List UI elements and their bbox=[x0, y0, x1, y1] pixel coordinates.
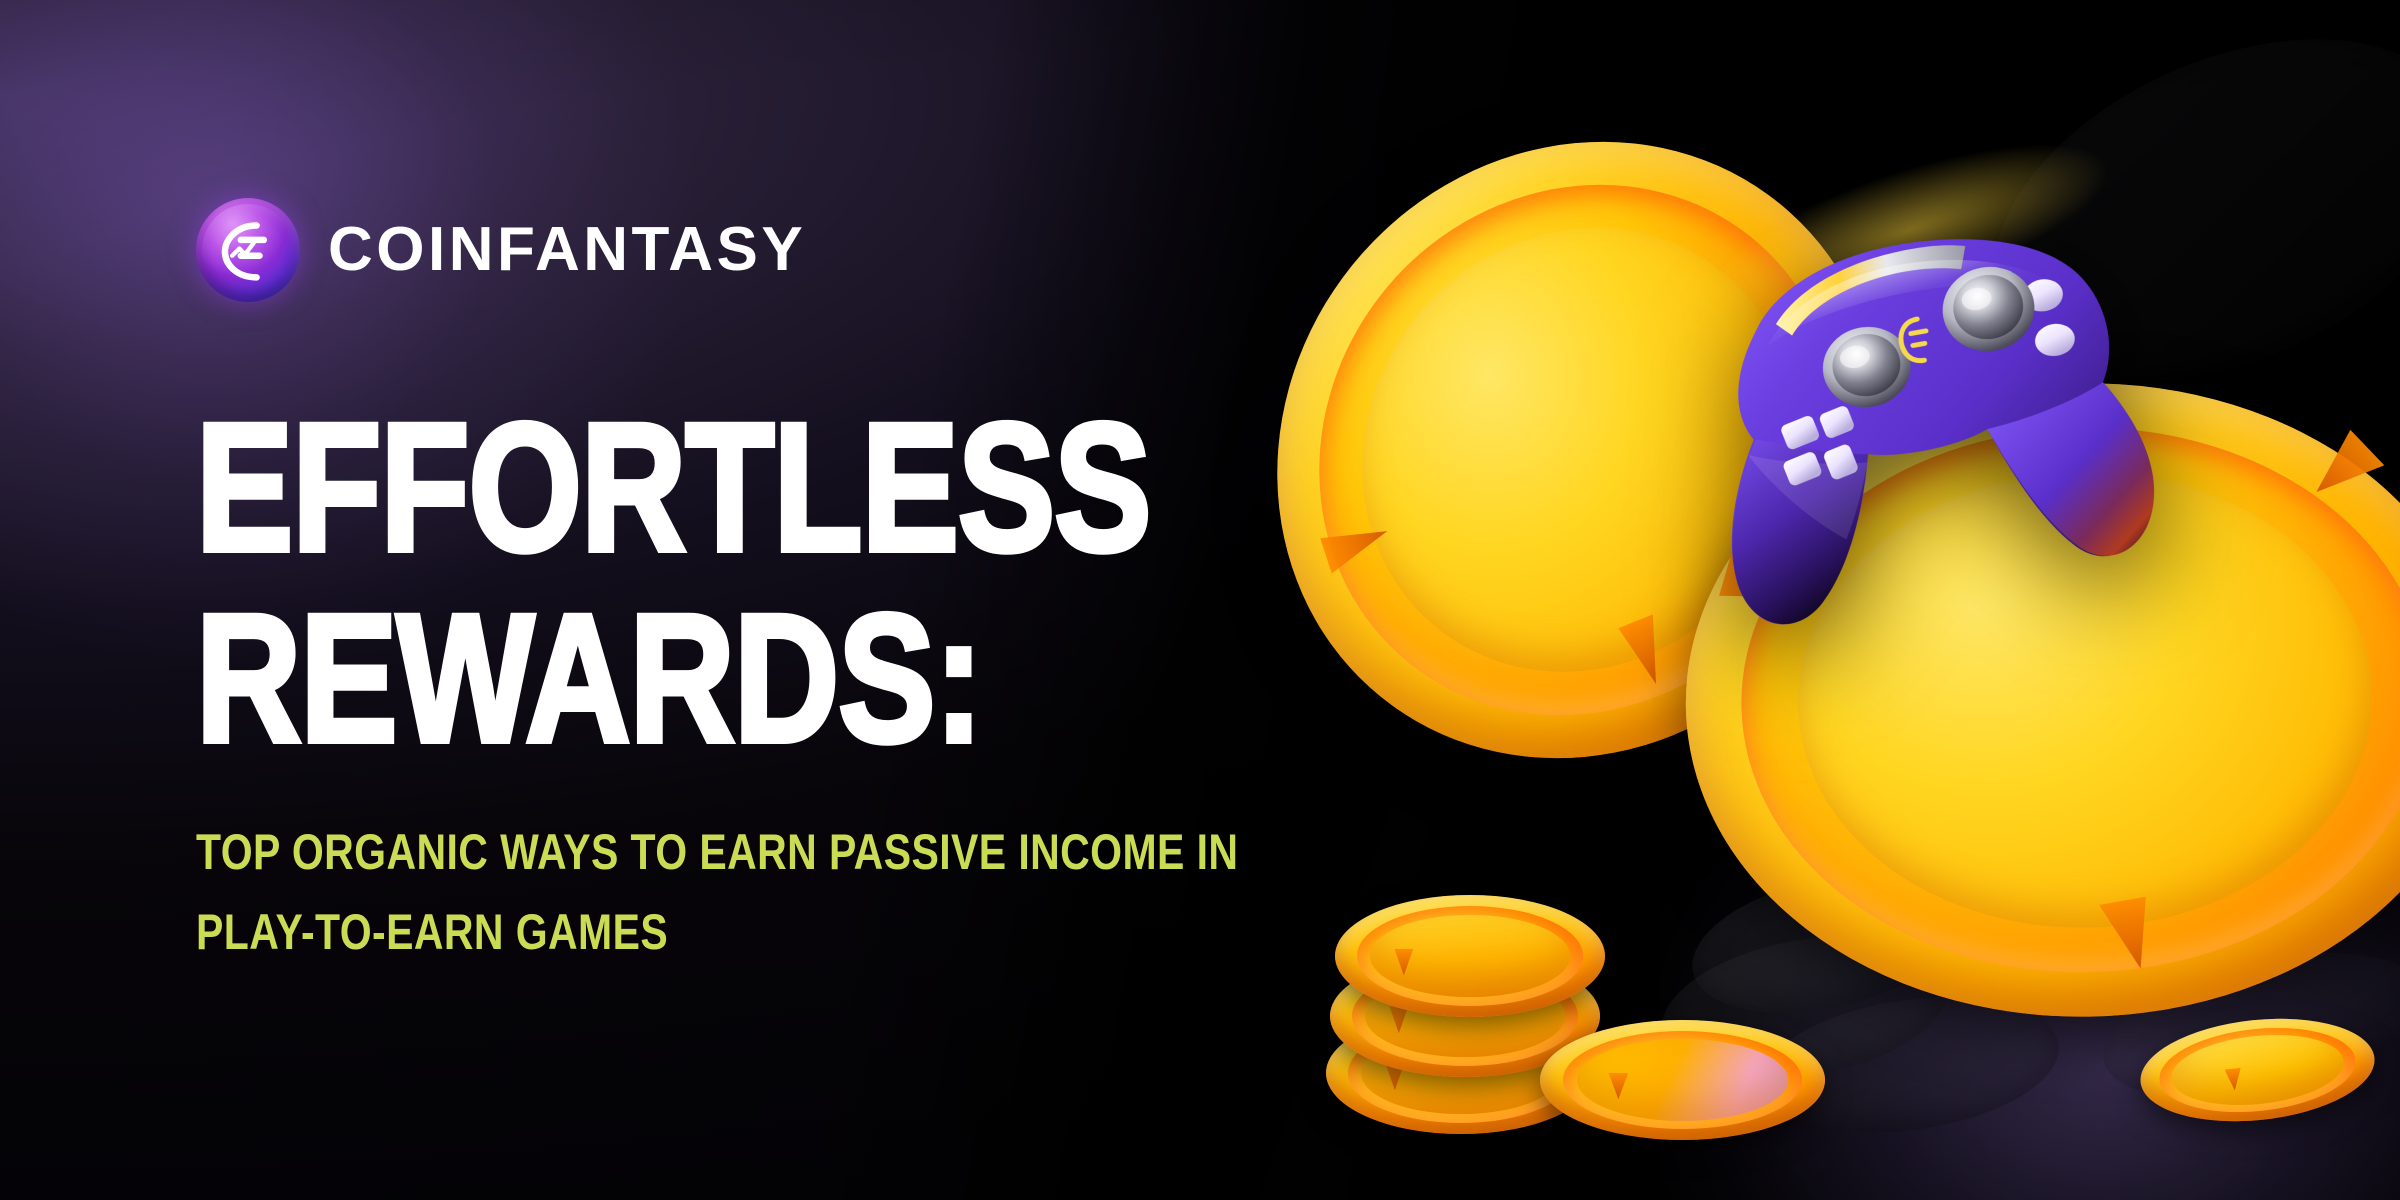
gold-coin-flat bbox=[1540, 1020, 1825, 1140]
promo-banner: COINFANTASY EFFORTLESS REWARDS: TOP ORGA… bbox=[0, 0, 2400, 1200]
coinfantasy-coin-logo-icon bbox=[196, 198, 300, 302]
headline: EFFORTLESS REWARDS: bbox=[196, 404, 1256, 763]
gold-coin-stack-top bbox=[1335, 895, 1605, 1017]
subheadline: TOP ORGANIC WAYS TO EARN PASSIVE INCOME … bbox=[196, 827, 1256, 957]
subheadline-line-2: PLAY-TO-EARN GAMES bbox=[196, 907, 1065, 957]
brand-logo[interactable]: COINFANTASY bbox=[196, 196, 1256, 304]
headline-line-1: EFFORTLESS bbox=[196, 404, 1044, 571]
game-controller bbox=[1612, 105, 2257, 734]
subheadline-line-1: TOP ORGANIC WAYS TO EARN PASSIVE INCOME … bbox=[196, 827, 1065, 877]
text-content: COINFANTASY EFFORTLESS REWARDS: TOP ORGA… bbox=[196, 196, 1256, 957]
controller-body bbox=[1684, 208, 2168, 631]
brand-wordmark: COINFANTASY bbox=[328, 219, 806, 281]
headline-line-2: REWARDS: bbox=[196, 595, 1044, 762]
coin-face bbox=[1577, 1039, 1788, 1121]
